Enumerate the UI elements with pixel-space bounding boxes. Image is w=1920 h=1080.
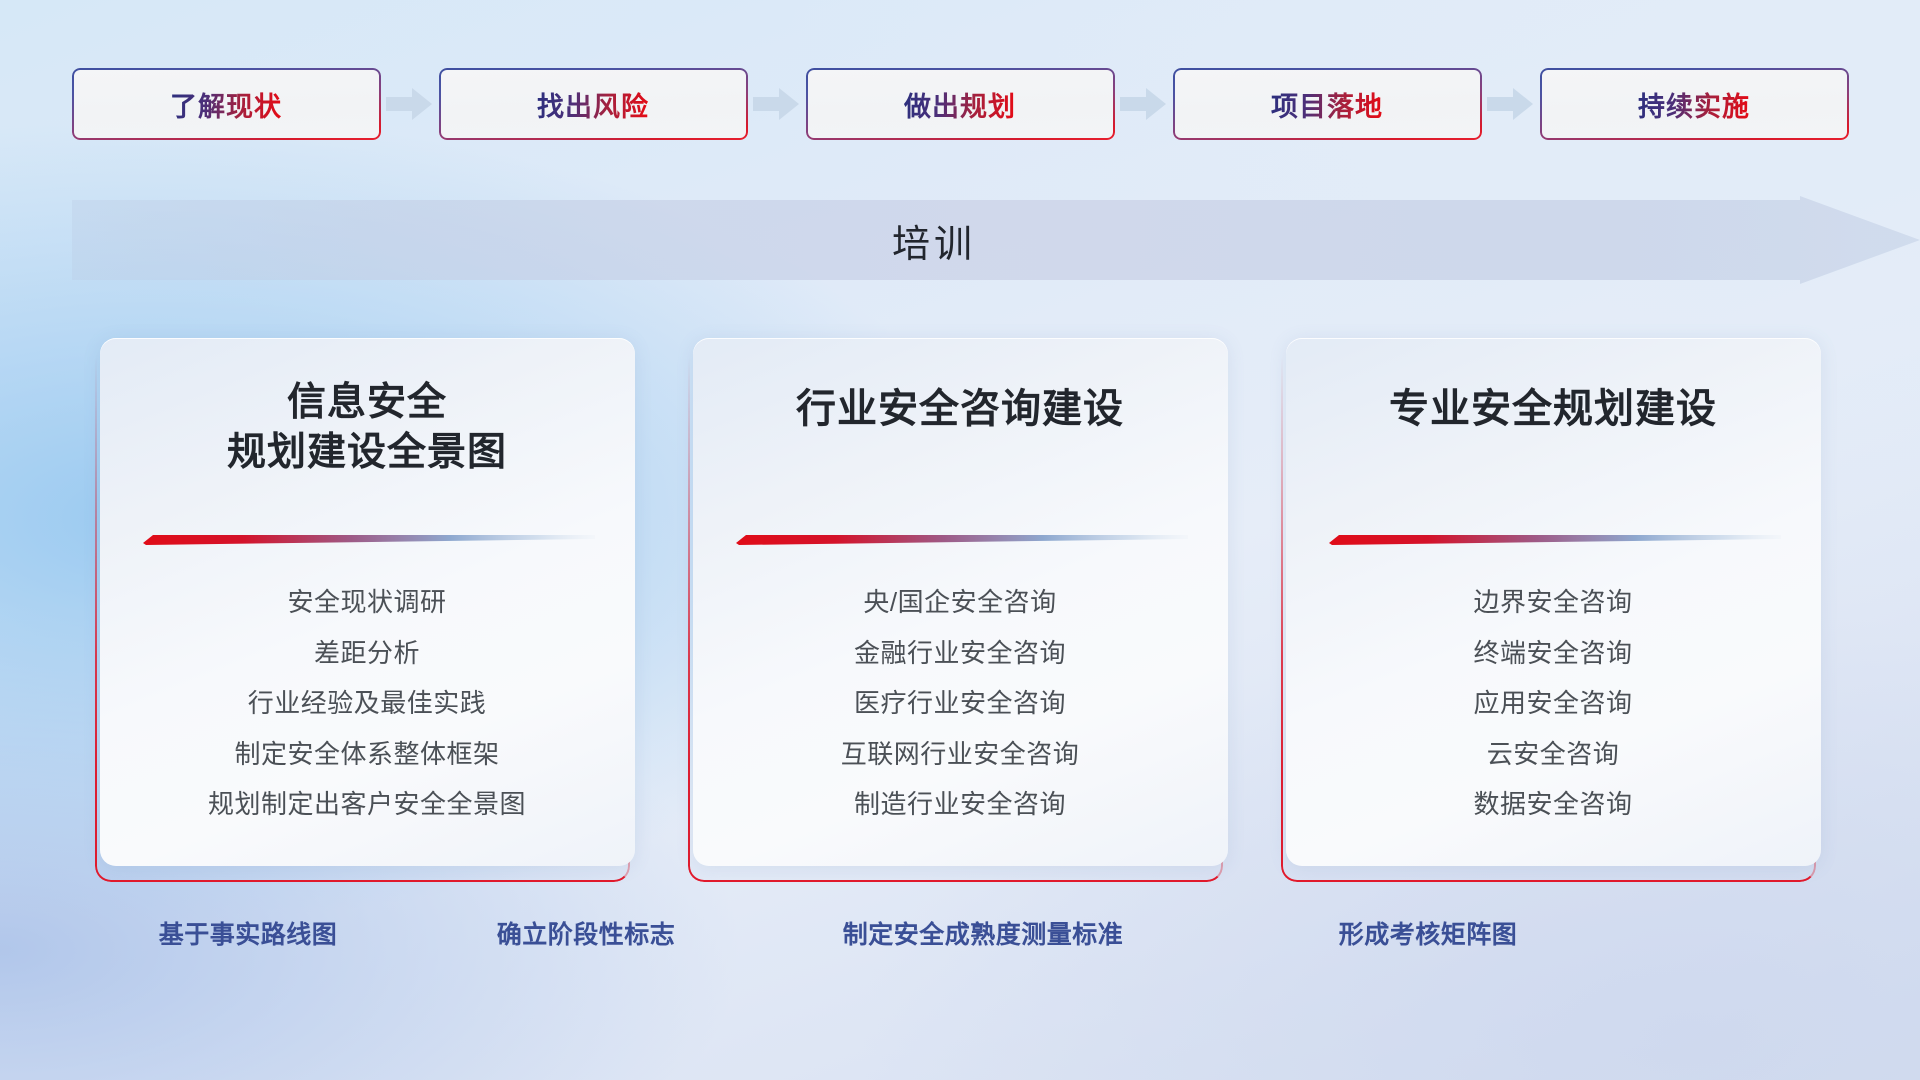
step-box-1[interactable]: 了解现状	[72, 68, 381, 140]
list-item: 行业经验及最佳实践	[248, 683, 487, 725]
card-divider-wedge	[140, 532, 595, 548]
step-label: 项目落地	[1271, 85, 1383, 124]
list-item: 金融行业安全咨询	[854, 633, 1066, 675]
list-item: 制定安全体系整体框架	[234, 734, 499, 776]
arrow-right-icon	[1482, 84, 1540, 124]
card-wrap-1: 信息安全 规划建设全景图	[100, 338, 635, 878]
caption-matrix: 形成考核矩阵图	[1339, 915, 1518, 951]
card-title: 专业安全规划建设	[1389, 384, 1717, 435]
list-item: 制造行业安全咨询	[854, 784, 1066, 826]
step-label: 做出规划	[904, 85, 1016, 124]
card-divider-wedge	[733, 532, 1188, 548]
card-row: 信息安全 规划建设全景图	[0, 338, 1920, 878]
card-industry-security-consulting[interactable]: 行业安全咨询建设	[693, 338, 1228, 866]
step-box-4[interactable]: 项目落地	[1173, 68, 1482, 140]
card-list: 央/国企安全咨询 金融行业安全咨询 医疗行业安全咨询 互联网行业安全咨询 制造行…	[693, 548, 1228, 866]
list-item: 终端安全咨询	[1473, 633, 1632, 675]
step-box-3[interactable]: 做出规划	[806, 68, 1115, 140]
list-item: 云安全咨询	[1487, 734, 1620, 776]
caption-row: 基于事实路线图 确立阶段性标志 制定安全成熟度测量标准 形成考核矩阵图	[0, 915, 1920, 965]
list-item: 边界安全咨询	[1473, 582, 1632, 624]
process-step-row: 了解现状 找出风险 做出规划 项目落地 持续实施	[0, 64, 1920, 144]
banner-label: 培训	[0, 196, 1868, 284]
card-title: 行业安全咨询建设	[796, 384, 1124, 435]
caption-roadmap: 基于事实路线图	[159, 915, 338, 951]
card-divider-wedge	[1326, 532, 1781, 548]
list-item: 安全现状调研	[287, 582, 446, 624]
card-title: 信息安全 规划建设全景图	[227, 378, 507, 478]
step-box-2[interactable]: 找出风险	[439, 68, 748, 140]
caption-maturity: 制定安全成熟度测量标准	[843, 915, 1124, 951]
list-item: 互联网行业安全咨询	[841, 734, 1080, 776]
card-list: 安全现状调研 差距分析 行业经验及最佳实践 制定安全体系整体框架 规划制定出客户…	[100, 548, 635, 866]
step-box-5[interactable]: 持续实施	[1540, 68, 1849, 140]
step-label: 持续实施	[1638, 85, 1750, 124]
list-item: 央/国企安全咨询	[863, 582, 1056, 624]
step-label: 了解现状	[170, 85, 282, 124]
list-item: 规划制定出客户安全全景图	[208, 784, 526, 826]
training-banner: 培训	[0, 196, 1920, 284]
arrow-right-icon	[748, 84, 806, 124]
list-item: 医疗行业安全咨询	[854, 683, 1066, 725]
card-professional-security-planning[interactable]: 专业安全规划建设	[1286, 338, 1821, 866]
arrow-right-icon	[381, 84, 439, 124]
card-list: 边界安全咨询 终端安全咨询 应用安全咨询 云安全咨询 数据安全咨询	[1286, 548, 1821, 866]
card-wrap-3: 专业安全规划建设	[1286, 338, 1821, 878]
card-information-security-panorama[interactable]: 信息安全 规划建设全景图	[100, 338, 635, 866]
step-label: 找出风险	[537, 85, 649, 124]
arrow-right-icon	[1115, 84, 1173, 124]
list-item: 差距分析	[314, 633, 420, 675]
card-wrap-2: 行业安全咨询建设	[693, 338, 1228, 878]
list-item: 应用安全咨询	[1473, 683, 1632, 725]
list-item: 数据安全咨询	[1473, 784, 1632, 826]
caption-milestones: 确立阶段性标志	[497, 915, 676, 951]
